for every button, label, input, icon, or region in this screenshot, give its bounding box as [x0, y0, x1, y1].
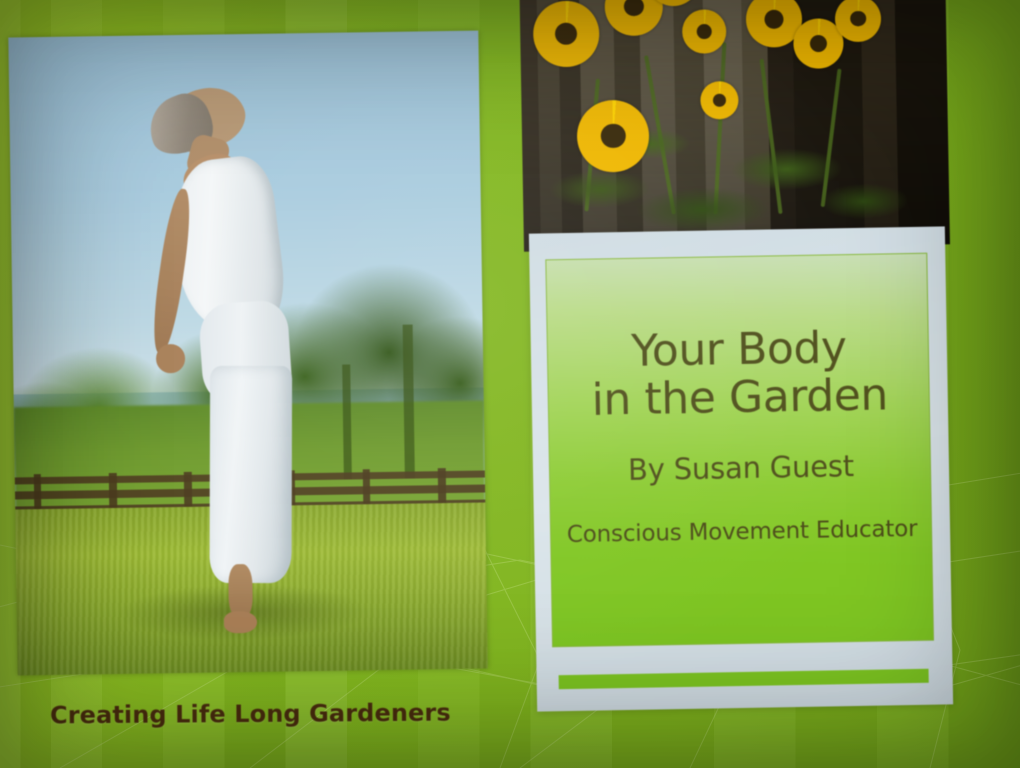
white-pants: [210, 366, 293, 583]
hand: [156, 344, 185, 373]
role-line: Conscious Movement Educator: [567, 516, 918, 548]
calf: [228, 563, 253, 618]
title-line-1: Your Body: [631, 324, 847, 375]
author-line: By Susan Guest: [628, 449, 854, 487]
sunflower-bloom: [682, 9, 727, 54]
sunflower-bloom: [532, 0, 599, 67]
footer-tagline: Creating Life Long Gardeners: [50, 699, 451, 730]
title-card: Your Body in the Garden By Susan Guest C…: [529, 226, 953, 711]
presentation-slide: Your Body in the Garden By Susan Guest C…: [0, 0, 1020, 768]
bare-foot: [224, 611, 257, 633]
woman-backbend-photo: [8, 31, 487, 676]
title-line-2: in the Garden: [591, 371, 888, 424]
card-text-block: Your Body in the Garden By Susan Guest C…: [529, 226, 953, 711]
sunflowers-photo: [519, 0, 950, 252]
woman-figure: [8, 31, 487, 676]
